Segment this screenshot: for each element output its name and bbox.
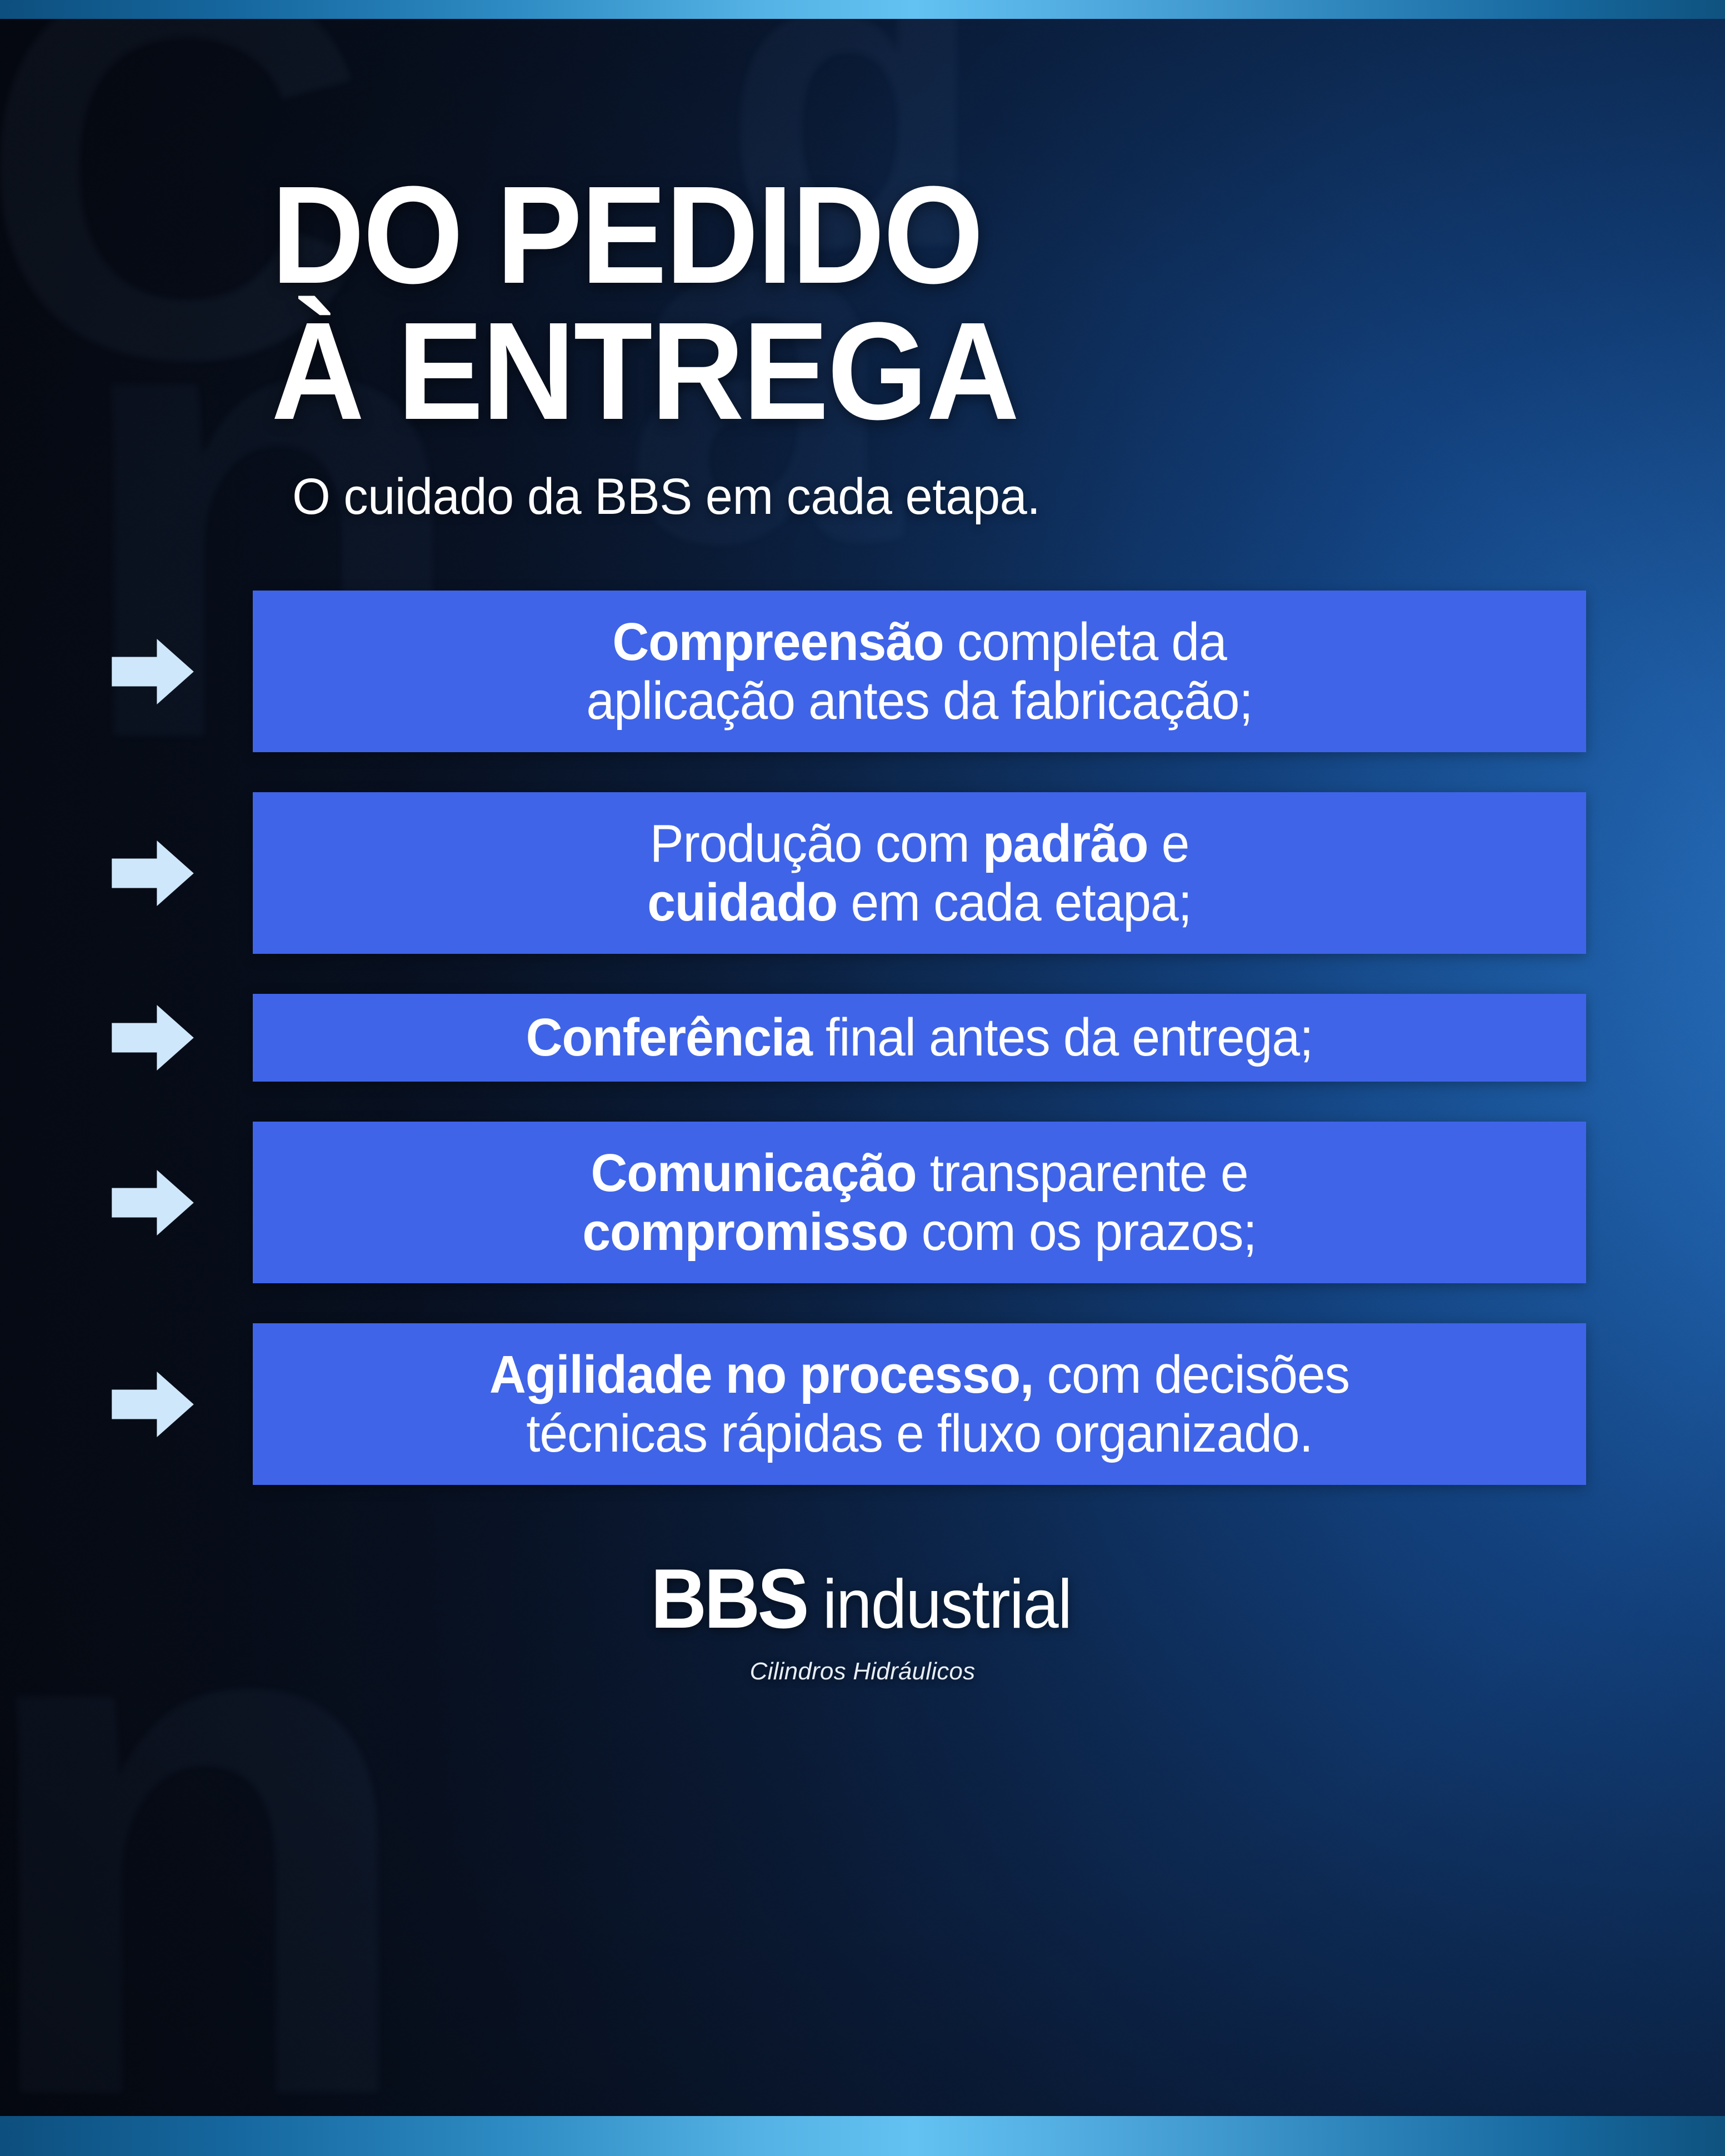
benefit-line: cuidado em cada etapa;	[316, 873, 1523, 932]
title-line-2: À ENTREGA	[271, 303, 1542, 439]
benefit-line: compromisso com os prazos;	[316, 1203, 1523, 1262]
benefit-text: final antes da entrega;	[812, 1008, 1313, 1067]
page-subtitle: O cuidado da BBS em cada etapa.	[0, 468, 1656, 526]
benefit-keyword: Comunicação	[591, 1143, 916, 1203]
brand-logo: BBS industrial Cilindros Hidráulicos	[0, 1550, 1725, 1685]
benefit-text: completa da	[944, 612, 1227, 672]
benefit-box: Agilidade no processo, com decisões técn…	[253, 1323, 1586, 1485]
arrow-right-icon	[111, 1005, 194, 1071]
benefit-text: com decisões	[1033, 1345, 1349, 1404]
benefit-text: Produção com	[650, 814, 983, 873]
logo-industrial-text: industrial	[823, 1565, 1072, 1644]
benefit-line: Compreensão completa da	[316, 613, 1523, 672]
benefit-keyword: cuidado	[647, 873, 837, 932]
poster-content: DO PEDIDO À ENTREGA O cuidado da BBS em …	[0, 0, 1725, 2156]
list-item: Conferência final antes da entrega;	[0, 994, 1725, 1082]
benefit-line: Conferência final antes da entrega;	[316, 1008, 1523, 1067]
logo-bbs-text: BBS	[651, 1550, 807, 1648]
list-item: Agilidade no processo, com decisões técn…	[0, 1323, 1725, 1485]
benefit-text: e	[1148, 814, 1189, 873]
list-item: Produção com padrão e cuidado em cada et…	[0, 792, 1725, 954]
benefit-text: técnicas rápidas e fluxo organizado.	[526, 1404, 1313, 1463]
benefit-box: Compreensão completa da aplicação antes …	[253, 591, 1586, 752]
benefit-line: técnicas rápidas e fluxo organizado.	[316, 1404, 1523, 1463]
benefit-box: Conferência final antes da entrega;	[253, 994, 1586, 1082]
poster-canvas: C n d a n DO PEDIDO À ENTREGA O cuidado …	[0, 0, 1725, 2156]
benefit-line: aplicação antes da fabricação;	[316, 672, 1523, 731]
benefit-box: Produção com padrão e cuidado em cada et…	[253, 792, 1586, 954]
arrow-right-icon	[111, 1372, 194, 1437]
logo-tagline: Cilindros Hidráulicos	[750, 1658, 976, 1685]
benefit-text: em cada etapa;	[837, 873, 1192, 932]
logo-wordmark: BBS industrial	[644, 1550, 1081, 1648]
benefit-line: Agilidade no processo, com decisões	[316, 1345, 1523, 1404]
arrow-right-icon	[111, 1170, 194, 1235]
benefit-keyword: padrão	[983, 814, 1148, 873]
arrow-right-icon	[111, 841, 194, 906]
arrow-right-icon	[111, 639, 194, 704]
benefit-keyword: Compreensão	[612, 612, 943, 672]
list-item: Compreensão completa da aplicação antes …	[0, 591, 1725, 752]
title-line-1: DO PEDIDO	[271, 157, 982, 312]
list-item: Comunicação transparente e compromisso c…	[0, 1122, 1725, 1283]
benefit-box: Comunicação transparente e compromisso c…	[253, 1122, 1586, 1283]
benefit-text: com os prazos;	[908, 1202, 1256, 1262]
benefit-line: Produção com padrão e	[316, 814, 1523, 873]
benefit-keyword: compromisso	[582, 1202, 908, 1262]
benefit-text: aplicação antes da fabricação;	[586, 671, 1252, 731]
benefit-line: Comunicação transparente e	[316, 1144, 1523, 1203]
benefit-keyword: Agilidade no processo,	[489, 1345, 1033, 1404]
page-title: DO PEDIDO À ENTREGA	[0, 167, 1604, 439]
benefit-keyword: Conferência	[526, 1008, 812, 1067]
benefits-list: Compreensão completa da aplicação antes …	[0, 591, 1725, 1485]
benefit-text: transparente e	[916, 1143, 1248, 1203]
